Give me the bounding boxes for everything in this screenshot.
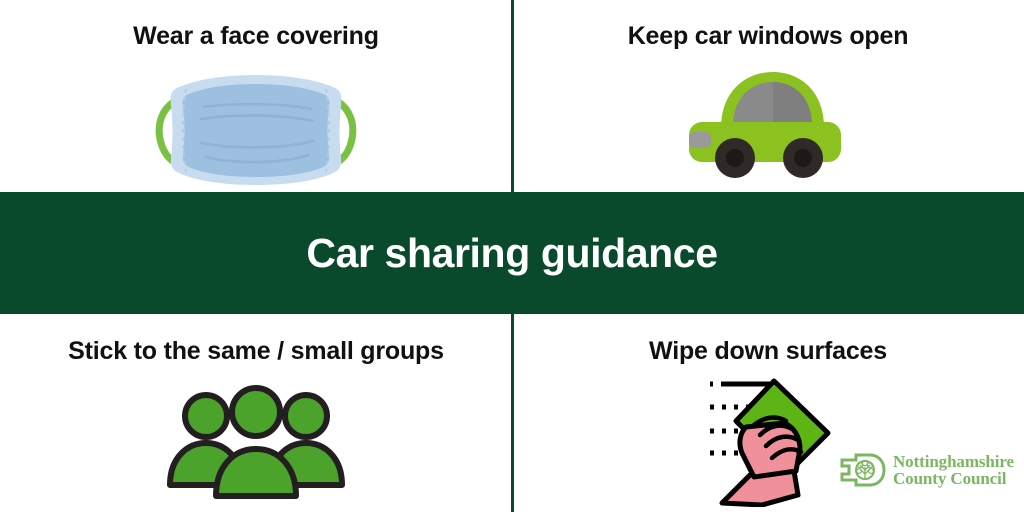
logo-wordmark: Nottinghamshire County Council bbox=[893, 453, 1014, 488]
panel-keep-car-windows-open: Keep car windows open bbox=[512, 0, 1024, 192]
panel-stick-to-small-groups: Stick to the same / small groups bbox=[0, 315, 512, 512]
nottinghamshire-tree-emblem-icon bbox=[840, 452, 886, 488]
panel-art-car bbox=[512, 62, 1024, 187]
green-car-icon bbox=[681, 66, 856, 184]
hand-wiping-cloth-icon bbox=[702, 375, 834, 507]
panel-wear-a-face-covering: Wear a face covering bbox=[0, 0, 512, 192]
panel-heading-wipe-surfaces: Wipe down surfaces bbox=[512, 337, 1024, 366]
group-of-people-icon bbox=[166, 385, 346, 500]
banner-title: Car sharing guidance bbox=[306, 233, 717, 274]
panel-art-group bbox=[0, 380, 512, 505]
nottinghamshire-county-council-logo: Nottinghamshire County Council bbox=[840, 452, 1014, 488]
panel-heading-car-windows: Keep car windows open bbox=[512, 22, 1024, 51]
center-banner: Car sharing guidance bbox=[0, 192, 1024, 314]
logo-line-2: County Council bbox=[893, 470, 1014, 487]
panel-art-face-covering bbox=[0, 62, 512, 187]
face-mask-icon bbox=[141, 65, 371, 185]
logo-line-1: Nottinghamshire bbox=[893, 453, 1014, 470]
panel-heading-small-groups: Stick to the same / small groups bbox=[0, 337, 512, 366]
car-sharing-guidance-infographic: Wear a face covering Keep c bbox=[0, 0, 1024, 512]
panel-heading-face-covering: Wear a face covering bbox=[0, 22, 512, 51]
